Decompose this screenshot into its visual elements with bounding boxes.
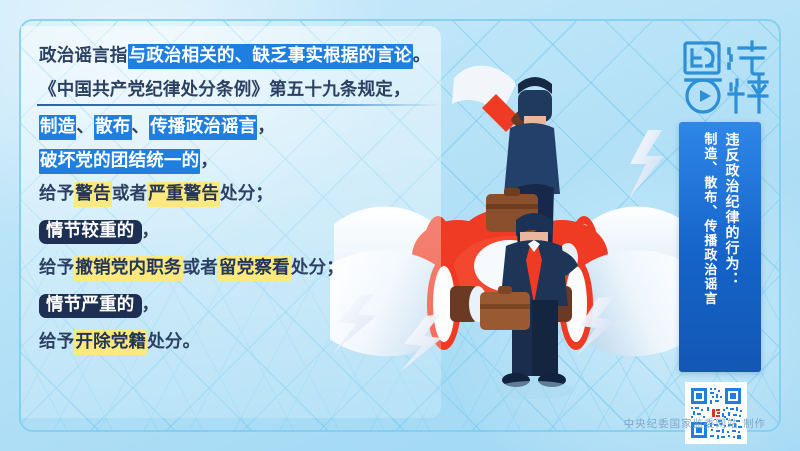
segment-plain: 或者 <box>183 258 218 278</box>
right-rail: 违反政治纪律的行为： 制造、散布、传播政治谣言 <box>673 30 778 420</box>
segment-plain: 给予 <box>39 332 74 352</box>
credit-line: 中央纪委国家监委网站 制作 <box>624 416 766 431</box>
segment-plain: 、 <box>76 117 94 137</box>
segment-badge-dark: 情节严重的 <box>39 294 142 319</box>
segment-plain: 处分。 <box>147 332 200 352</box>
segment-plain: 、 <box>132 117 150 137</box>
segment-hl-blue: 散布 <box>94 115 131 140</box>
segment-hl-blue: 破坏党的团结统一的 <box>39 149 200 174</box>
text-line-penalty-1: 给予警告或者严重警告处分； <box>39 186 441 204</box>
segment-plain: ， <box>142 295 160 315</box>
text-line-condition-2: 情节严重的， <box>39 294 441 319</box>
segment-plain: ， <box>142 221 160 241</box>
segment-hl-blue: 与政治相关的、缺乏事实根据的言论 <box>128 44 413 69</box>
segment-plain: 处分； <box>291 258 344 278</box>
segment-hl-yellow: 撤销党内职务 <box>74 256 182 281</box>
segment-hl-blue: 传播政治谣言 <box>149 115 257 140</box>
segment-hl-blue: 制造 <box>39 115 76 140</box>
segment-badge-dark: 情节较重的 <box>39 220 142 245</box>
text-line-act-1: 制造、散布、传播政治谣言， <box>39 119 441 137</box>
segment-plain: 给予 <box>39 258 74 278</box>
banner-headline: 违反政治纪律的行为： <box>722 132 739 362</box>
segment-hl-yellow: 警告 <box>74 182 111 207</box>
segment-plain: 处分； <box>220 184 273 204</box>
banner-subline: 制造、散布、传播政治谣言 <box>701 132 717 362</box>
segment-plain: ， <box>200 151 218 171</box>
text-line-regulation-source: 《中国共产党纪律处分条例》第五十九条规定， <box>39 82 441 107</box>
poster-root: 政治谣言指与政治相关的、缺乏事实根据的言论。《中国共产党纪律处分条例》第五十九条… <box>0 0 800 451</box>
qr-code[interactable] <box>685 382 747 444</box>
text-line-penalty-3: 给予开除党籍处分。 <box>39 334 441 352</box>
segment-plain: 《中国共产党纪律处分条例》第五十九条 <box>39 80 358 100</box>
text-line-condition-1: 情节较重的， <box>39 220 441 245</box>
segment-plain: ， <box>257 117 275 137</box>
text-line-definition: 政治谣言指与政治相关的、缺乏事实根据的言论。 <box>39 48 441 66</box>
content-text-panel: 政治谣言指与政治相关的、缺乏事实根据的言论。《中国共产党纪律处分条例》第五十九条… <box>21 26 441 418</box>
text-line-act-2: 破坏党的团结统一的， <box>39 153 441 171</box>
segment-plain: 给予 <box>39 184 74 204</box>
vertical-banner: 违反政治纪律的行为： 制造、散布、传播政治谣言 <box>679 122 761 372</box>
segment-hl-yellow: 留党察看 <box>218 256 291 281</box>
segment-plain: 。 <box>413 46 431 66</box>
segment-plain: 或者 <box>112 184 147 204</box>
text-line-penalty-2: 给予撤销党内职务或者留党察看处分； <box>39 260 441 278</box>
segment-plain: 规定， <box>358 80 411 100</box>
segment-plain: 政治谣言指 <box>39 46 128 66</box>
segment-hl-yellow: 严重警告 <box>147 182 220 207</box>
segment-hl-yellow: 开除党籍 <box>74 330 147 355</box>
brand-logo-jifabaike[interactable] <box>679 38 775 116</box>
